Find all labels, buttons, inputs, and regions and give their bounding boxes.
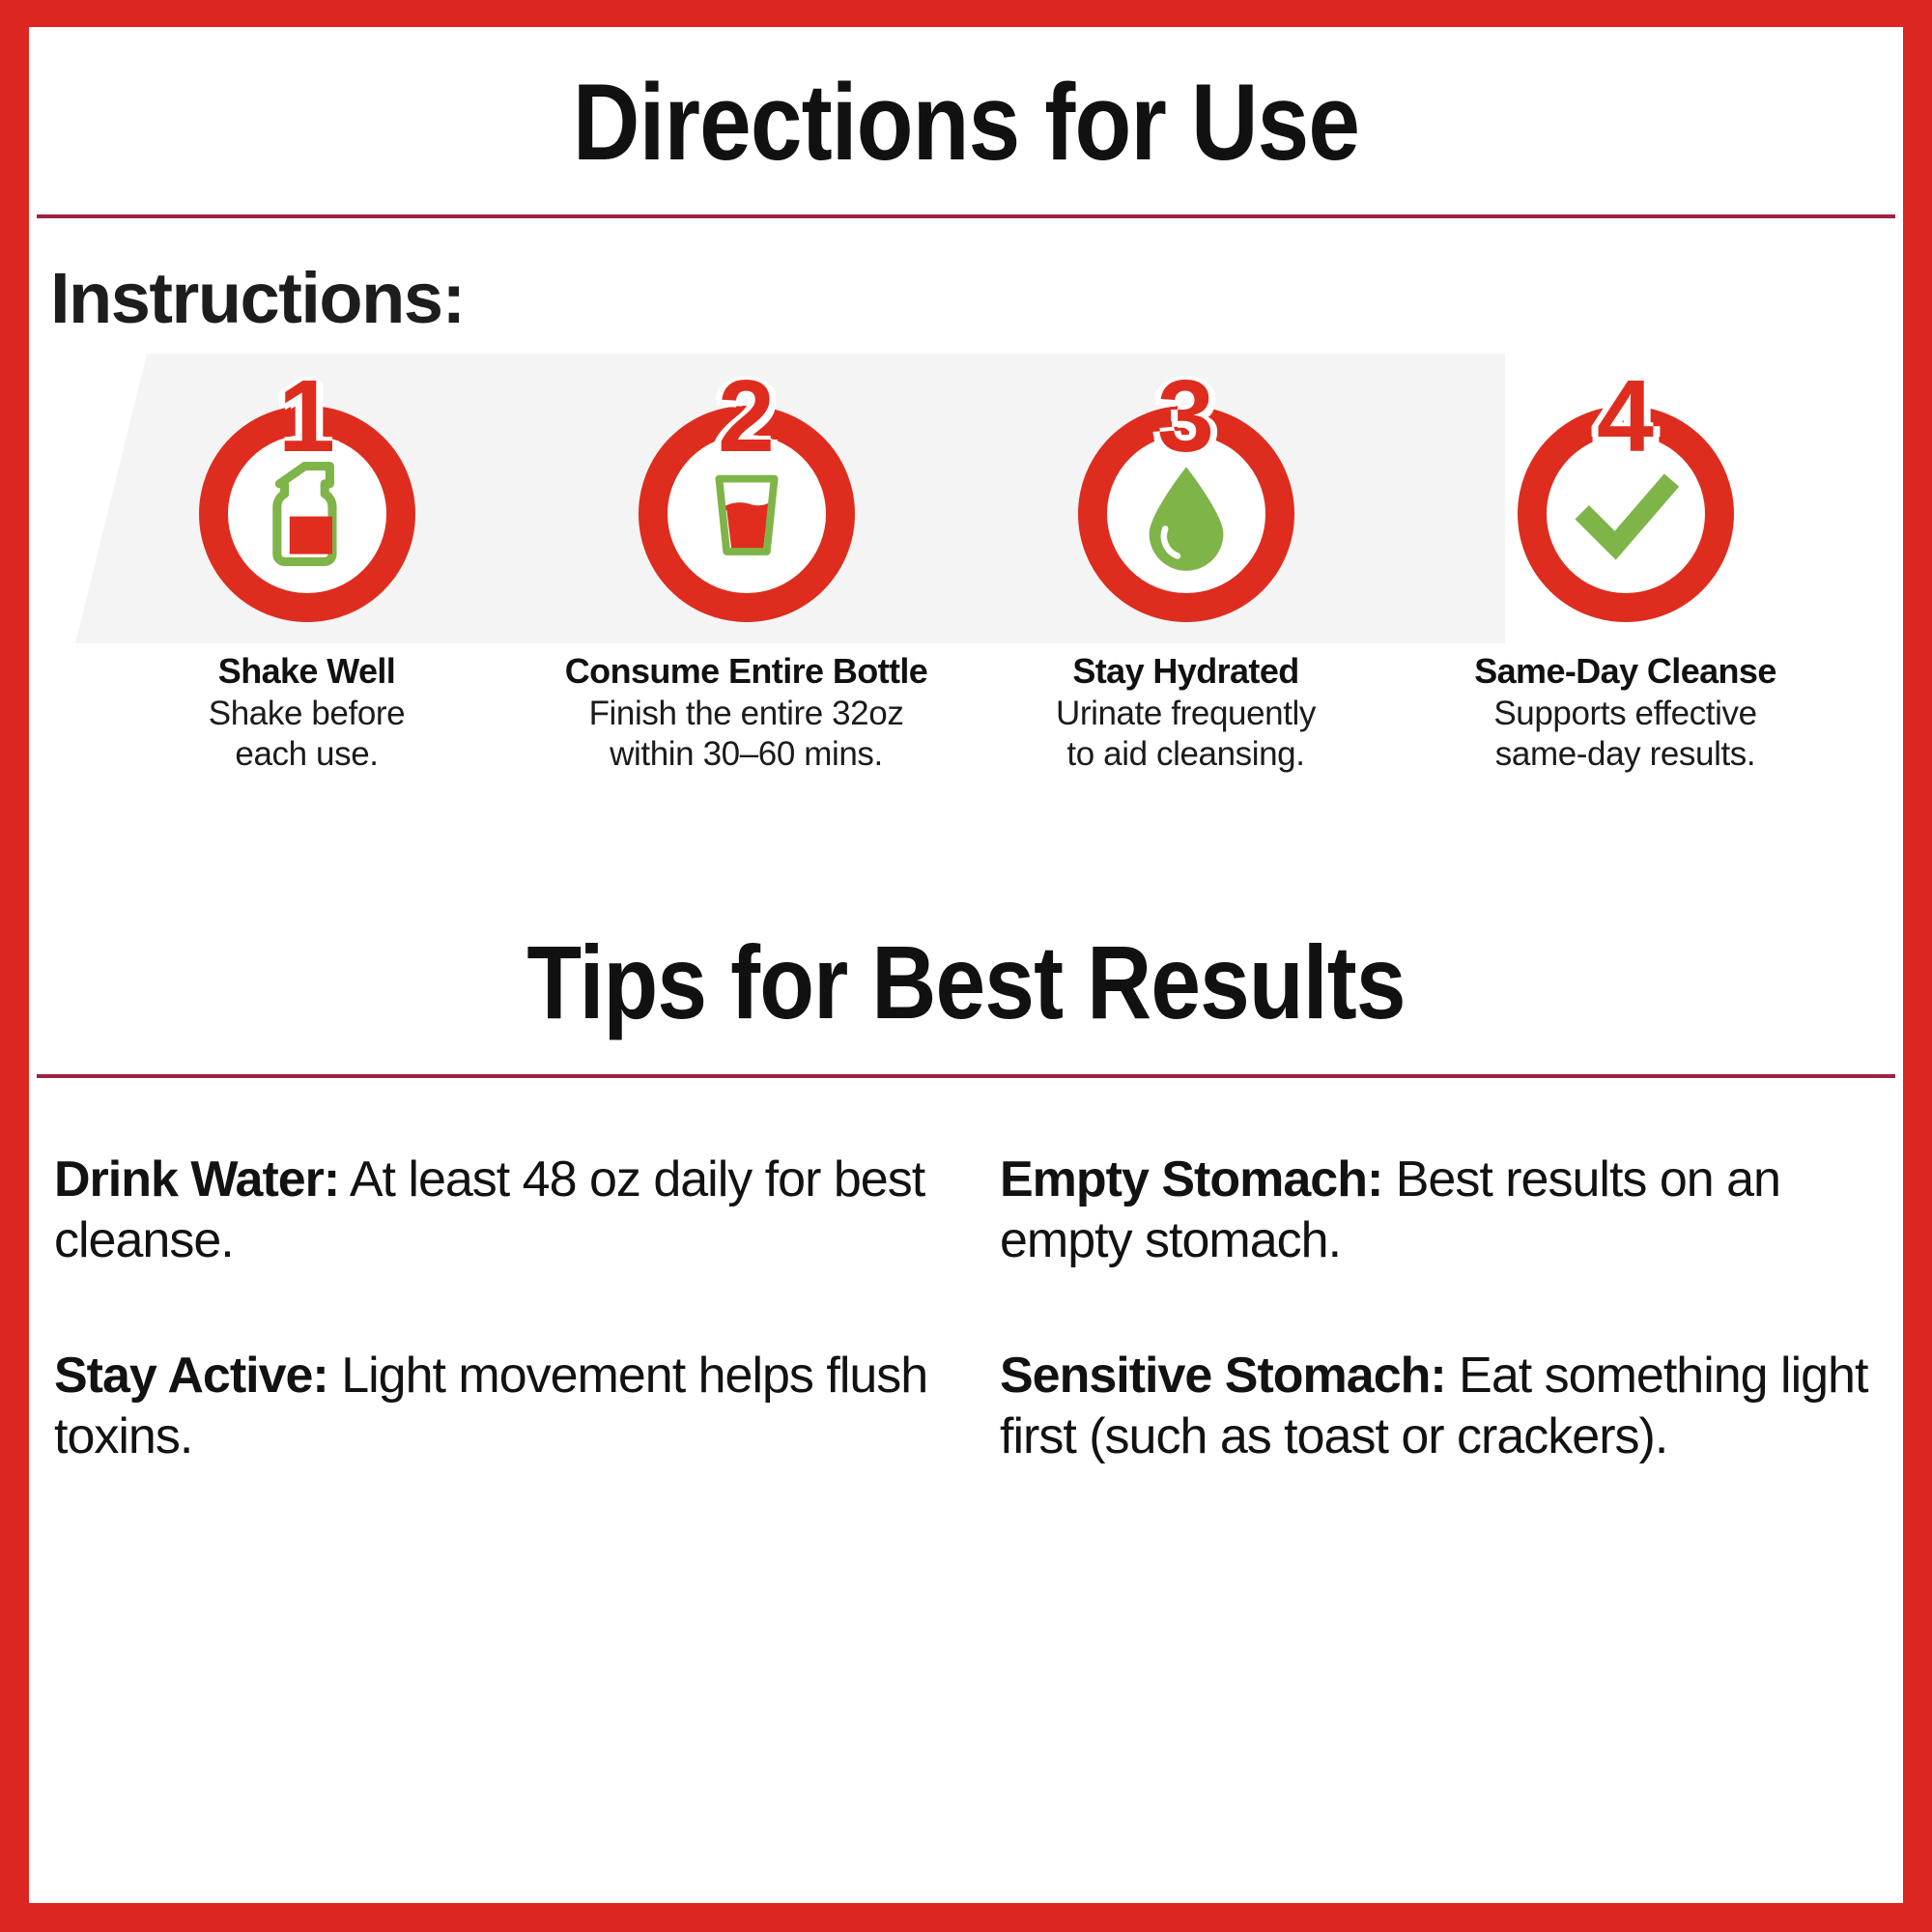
step-4-number: 4 (1506, 365, 1746, 468)
step-2-badge: 2 (627, 369, 867, 638)
instruction-steps-section: 1 Shake Well Shake before each use. (29, 369, 1903, 823)
step-2-number: 2 (627, 365, 867, 468)
tips-title: Tips for Best Results (160, 929, 1772, 1036)
step-3-description: Urinate frequently to aid cleansing. (979, 694, 1394, 775)
tip-empty-stomach: Empty Stomach: Best results on an empty … (1000, 1150, 1878, 1270)
step-1-number: 1 (187, 365, 427, 468)
step-1-description: Shake before each use. (99, 694, 515, 775)
content-card: Directions for Use Instructions: 1 (29, 27, 1903, 1903)
step-3-title: Stay Hydrated (979, 651, 1394, 692)
tip-sensitive-stomach-lead: Sensitive Stomach: (1000, 1348, 1446, 1404)
tips-header: Tips for Best Results (29, 929, 1903, 1036)
tip-empty-stomach-lead: Empty Stomach: (1000, 1151, 1382, 1207)
header: Directions for Use (29, 27, 1903, 178)
step-2-title: Consume Entire Bottle (539, 651, 954, 692)
instruction-step-2: 2 Consume Entire Bottle Finish the entir… (539, 369, 954, 775)
instruction-step-1: 1 Shake Well Shake before each use. (99, 369, 515, 775)
instruction-steps-row: 1 Shake Well Shake before each use. (29, 369, 1903, 775)
tip-drink-water-lead: Drink Water: (54, 1151, 339, 1207)
step-1-title: Shake Well (99, 651, 515, 692)
instructions-heading: Instructions: (50, 263, 1903, 334)
step-3-number: 3 (1066, 365, 1306, 468)
step-4-badge: 4 (1506, 369, 1746, 638)
step-3-badge: 3 (1066, 369, 1306, 638)
instruction-step-4: 4 Same-Day Cleanse Supports effective sa… (1418, 369, 1833, 775)
page-title: Directions for Use (160, 68, 1772, 178)
tips-grid: Drink Water: At least 48 oz daily for be… (29, 1078, 1903, 1466)
step-4-title: Same-Day Cleanse (1418, 651, 1833, 692)
header-divider (37, 214, 1895, 218)
tip-stay-active-lead: Stay Active: (54, 1348, 328, 1404)
step-4-description: Supports effective same-day results. (1418, 694, 1833, 775)
instruction-step-3: 3 Stay Hydrated Urinate frequently to ai… (979, 369, 1394, 775)
red-frame: Directions for Use Instructions: 1 (0, 0, 1932, 1932)
tip-drink-water: Drink Water: At least 48 oz daily for be… (54, 1150, 932, 1270)
step-2-description: Finish the entire 32oz within 30–60 mins… (539, 694, 954, 775)
tip-sensitive-stomach: Sensitive Stomach: Eat something light f… (1000, 1346, 1878, 1466)
tip-stay-active: Stay Active: Light movement helps flush … (54, 1346, 932, 1466)
step-1-badge: 1 (187, 369, 427, 638)
